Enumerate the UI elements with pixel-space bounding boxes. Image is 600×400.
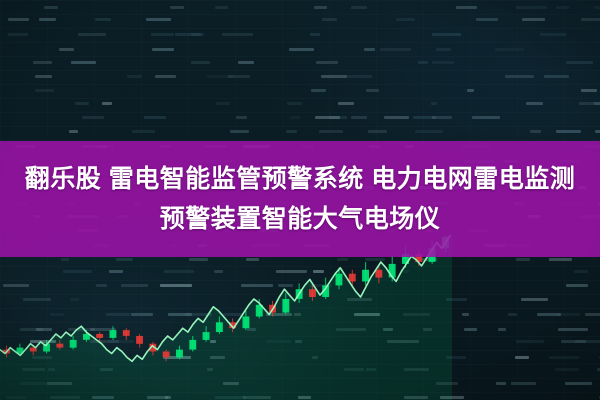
title-line-1: 翻乐股 雷电智能监管预警系统 电力电网雷电监测 <box>25 160 575 198</box>
title-banner: 翻乐股 雷电智能监管预警系统 电力电网雷电监测 预警装置智能大气电场仪 <box>0 141 600 257</box>
candlestick-chart <box>0 235 452 400</box>
chart-svg <box>0 235 452 400</box>
screenshot-canvas: 翻乐股 雷电智能监管预警系统 电力电网雷电监测 预警装置智能大气电场仪 <box>0 0 600 400</box>
title-line-2: 预警装置智能大气电场仪 <box>160 200 441 238</box>
